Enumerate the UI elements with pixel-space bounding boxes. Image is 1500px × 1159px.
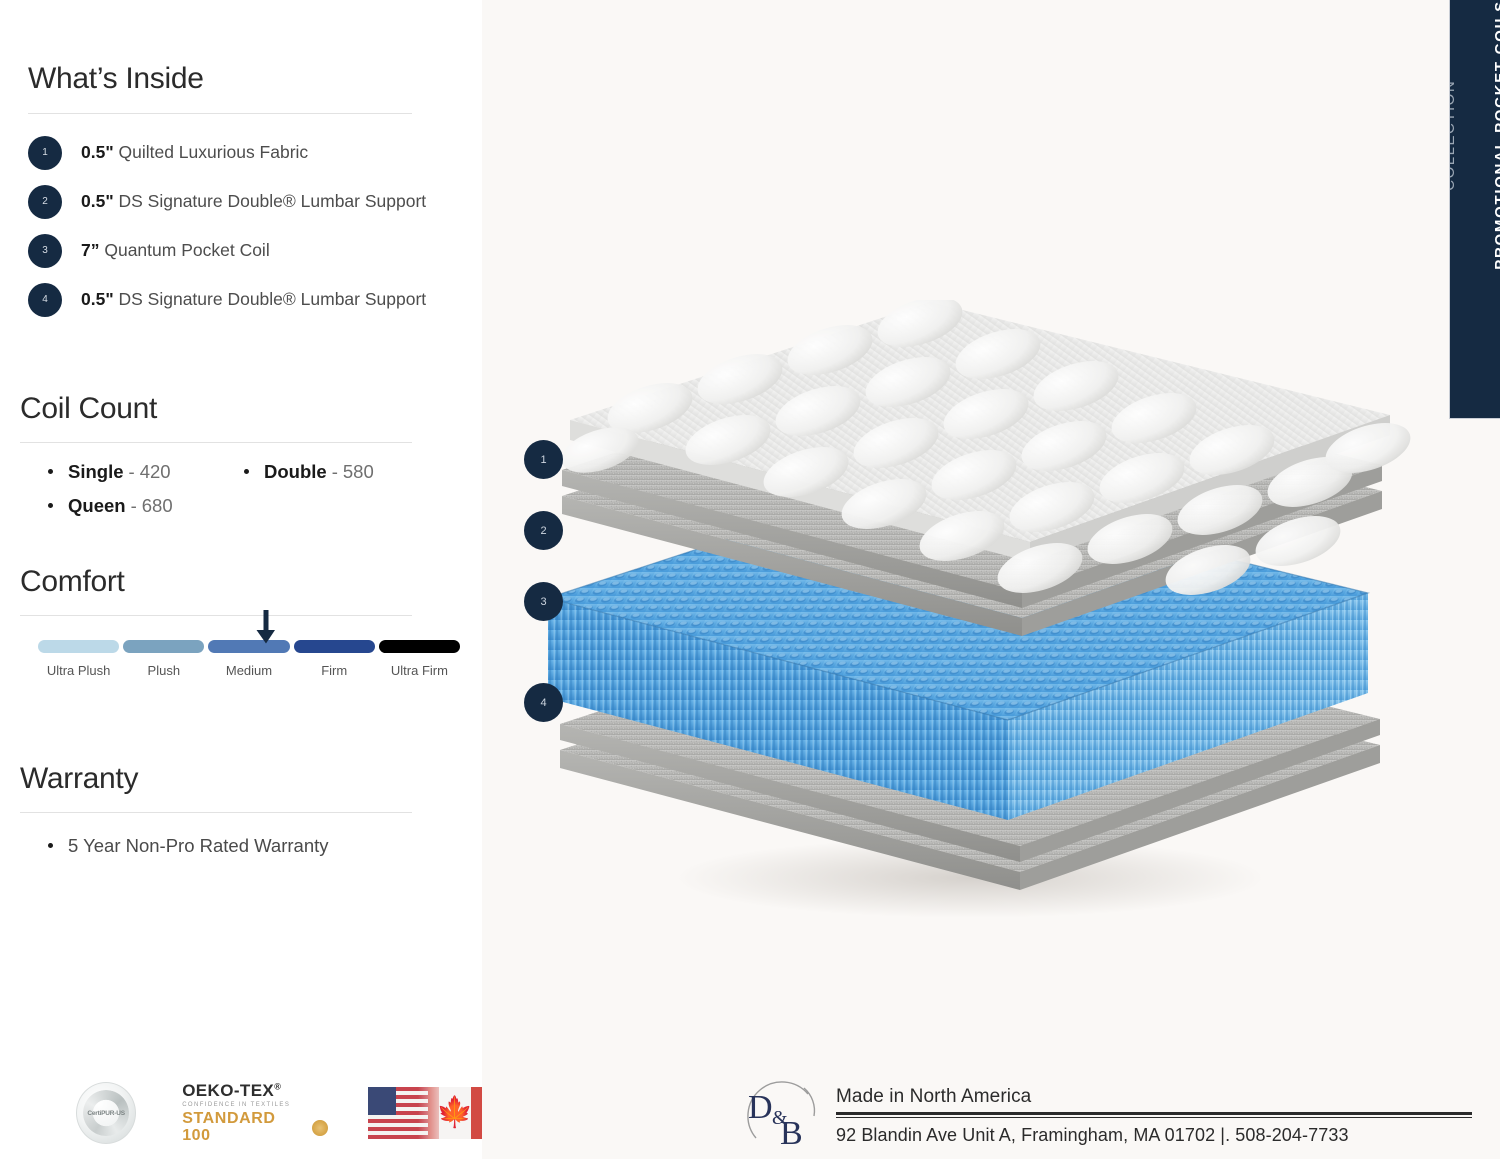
list-item-label: 0.5" DS Signature Double® Lumbar Support bbox=[81, 289, 426, 310]
comfort-label-ultra-firm: Ultra Firm bbox=[379, 663, 460, 678]
layer-number-badge: 3 bbox=[28, 234, 62, 268]
certification-badges: CertiPUR-US OEKO-TEX® CONFIDENCE IN TEXT… bbox=[76, 1082, 482, 1145]
coil-size: Double bbox=[264, 461, 327, 483]
down-arrow-icon bbox=[245, 610, 285, 644]
coil-count-title: Coil Count bbox=[20, 392, 412, 426]
comfort-label-firm: Firm bbox=[294, 663, 375, 678]
warranty-section: Warranty 5 Year Non-Pro Rated Warranty bbox=[20, 762, 412, 857]
comfort-label-ultra-plush: Ultra Plush bbox=[38, 663, 119, 678]
certipur-us-icon: CertiPUR-US bbox=[76, 1082, 136, 1144]
diagram-badge-1: 1 bbox=[524, 440, 563, 479]
coil-count-section: Coil Count Single - 420 Double - 580 bbox=[20, 392, 412, 517]
coil-value: 680 bbox=[142, 495, 173, 517]
footer-text: Made in North America 92 Blandin Ave Uni… bbox=[836, 1086, 1472, 1146]
coil-separator: - bbox=[129, 461, 135, 483]
list-item: Queen - 680 bbox=[48, 495, 244, 517]
warranty-divider bbox=[20, 812, 412, 813]
list-item: Double - 580 bbox=[244, 461, 444, 483]
coil-count-list: Single - 420 Double - 580 Queen - 680 bbox=[48, 461, 412, 517]
diagram-badge-4: 4 bbox=[524, 683, 563, 722]
comfort-level-plush[interactable] bbox=[123, 640, 204, 653]
layer-measure: 0.5" bbox=[81, 142, 114, 162]
spec-sheet-page: PROMOTIONAL POCKET COILS COLLECTION What… bbox=[0, 0, 1500, 1159]
list-item-label: 0.5" DS Signature Double® Lumbar Support bbox=[81, 191, 426, 212]
coil-separator: - bbox=[131, 495, 137, 517]
bullet-icon bbox=[48, 843, 53, 848]
comfort-label-plush: Plush bbox=[123, 663, 204, 678]
comfort-section: Comfort Ultra Plush Plush Medium bbox=[20, 565, 412, 678]
bullet-icon bbox=[48, 469, 53, 474]
coil-size: Single bbox=[68, 461, 124, 483]
layer-number-badge: 1 bbox=[28, 136, 62, 170]
made-in-label: Made in North America bbox=[836, 1086, 1472, 1108]
whats-inside-title: What’s Inside bbox=[28, 62, 412, 96]
db-monogram-logo: D & B bbox=[742, 1076, 828, 1156]
collection-tab: PROMOTIONAL POCKET COILS COLLECTION bbox=[1449, 0, 1500, 419]
footer-rule-thin bbox=[836, 1117, 1472, 1118]
coil-count-divider bbox=[20, 442, 412, 443]
oeko-tex-name: OEKO-TEX® bbox=[182, 1082, 327, 1100]
collection-tab-text: PROMOTIONAL POCKET COILS COLLECTION bbox=[1449, 0, 1500, 270]
layer-label: DS Signature Double® Lumbar Support bbox=[119, 289, 427, 309]
collection-tab-strong: PROMOTIONAL POCKET COILS bbox=[1475, 0, 1500, 270]
coil-value: 420 bbox=[140, 461, 171, 483]
list-item: Single - 420 bbox=[48, 461, 244, 483]
bullet-icon bbox=[48, 503, 53, 508]
oeko-tex-line1: OEKO-TEX bbox=[182, 1081, 274, 1100]
layer-measure: 0.5" bbox=[81, 191, 114, 211]
list-item-label: 7” Quantum Pocket Coil bbox=[81, 240, 270, 261]
layer-measure: 0.5" bbox=[81, 289, 114, 309]
whats-inside-section: What’s Inside 1 0.5" Quilted Luxurious F… bbox=[28, 62, 412, 324]
comfort-divider bbox=[20, 615, 412, 616]
coil-value: 580 bbox=[343, 461, 374, 483]
comfort-level-ultra-plush[interactable] bbox=[38, 640, 119, 653]
comfort-title: Comfort bbox=[20, 565, 412, 599]
coil-separator: - bbox=[332, 461, 338, 483]
svg-text:B: B bbox=[780, 1115, 803, 1152]
footer-address: 92 Blandin Ave Unit A, Framingham, MA 01… bbox=[836, 1125, 1472, 1146]
layer-number-badge: 2 bbox=[28, 185, 62, 219]
oeko-tex-sun-icon bbox=[312, 1120, 327, 1136]
usa-flag-canton bbox=[368, 1087, 396, 1115]
left-column: What’s Inside 1 0.5" Quilted Luxurious F… bbox=[0, 0, 482, 1159]
comfort-scale: Ultra Plush Plush Medium Firm Ultra Firm bbox=[20, 640, 412, 678]
usa-canada-flag-icon: 🍁 bbox=[368, 1087, 482, 1139]
whats-inside-list: 1 0.5" Quilted Luxurious Fabric 2 0.5" D… bbox=[28, 128, 412, 324]
oeko-tex-standard: STANDARD 100 bbox=[182, 1111, 327, 1145]
warranty-title: Warranty bbox=[20, 762, 412, 796]
layer-measure: 7” bbox=[81, 240, 99, 260]
list-item: 1 0.5" Quilted Luxurious Fabric bbox=[28, 128, 412, 177]
maple-leaf-icon: 🍁 bbox=[436, 1098, 473, 1128]
layer-label: DS Signature Double® Lumbar Support bbox=[119, 191, 427, 211]
list-item: 3 7” Quantum Pocket Coil bbox=[28, 226, 412, 275]
oeko-tex-subtitle: CONFIDENCE IN TEXTILES bbox=[182, 1102, 327, 1108]
oeko-tex-registered-mark: ® bbox=[274, 1081, 281, 1091]
whats-inside-divider bbox=[28, 113, 412, 114]
coil-size: Queen bbox=[68, 495, 126, 517]
comfort-level-firm[interactable] bbox=[294, 640, 375, 653]
diagram-badge-2: 2 bbox=[524, 511, 563, 550]
diagram-badge-3: 3 bbox=[524, 582, 563, 621]
list-item-label: 0.5" Quilted Luxurious Fabric bbox=[81, 142, 308, 163]
layer-label: Quantum Pocket Coil bbox=[104, 240, 269, 260]
comfort-level-ultra-firm[interactable] bbox=[379, 640, 460, 653]
layer-number-badge: 4 bbox=[28, 283, 62, 317]
oeko-tex-standard-label: STANDARD 100 bbox=[182, 1111, 305, 1145]
list-item: 2 0.5" DS Signature Double® Lumbar Suppo… bbox=[28, 177, 412, 226]
layer-label: Quilted Luxurious Fabric bbox=[119, 142, 309, 162]
comfort-label-medium: Medium bbox=[208, 663, 289, 678]
certipur-label: CertiPUR-US bbox=[87, 1110, 125, 1117]
svg-text:D: D bbox=[748, 1089, 773, 1126]
footer-rule-thick bbox=[836, 1112, 1472, 1115]
list-item: 5 Year Non-Pro Rated Warranty bbox=[48, 835, 412, 857]
comfort-scale-labels: Ultra Plush Plush Medium Firm Ultra Firm bbox=[38, 663, 460, 678]
oeko-tex-icon: OEKO-TEX® CONFIDENCE IN TEXTILES STANDAR… bbox=[182, 1082, 327, 1145]
list-item: 4 0.5" DS Signature Double® Lumbar Suppo… bbox=[28, 275, 412, 324]
bullet-icon bbox=[244, 469, 249, 474]
warranty-label: 5 Year Non-Pro Rated Warranty bbox=[68, 835, 329, 857]
collection-tab-light: COLLECTION bbox=[1449, 79, 1475, 190]
mattress-exploded-diagram bbox=[500, 300, 1440, 920]
footer: D & B Made in North America 92 Blandin A… bbox=[742, 1076, 1472, 1156]
